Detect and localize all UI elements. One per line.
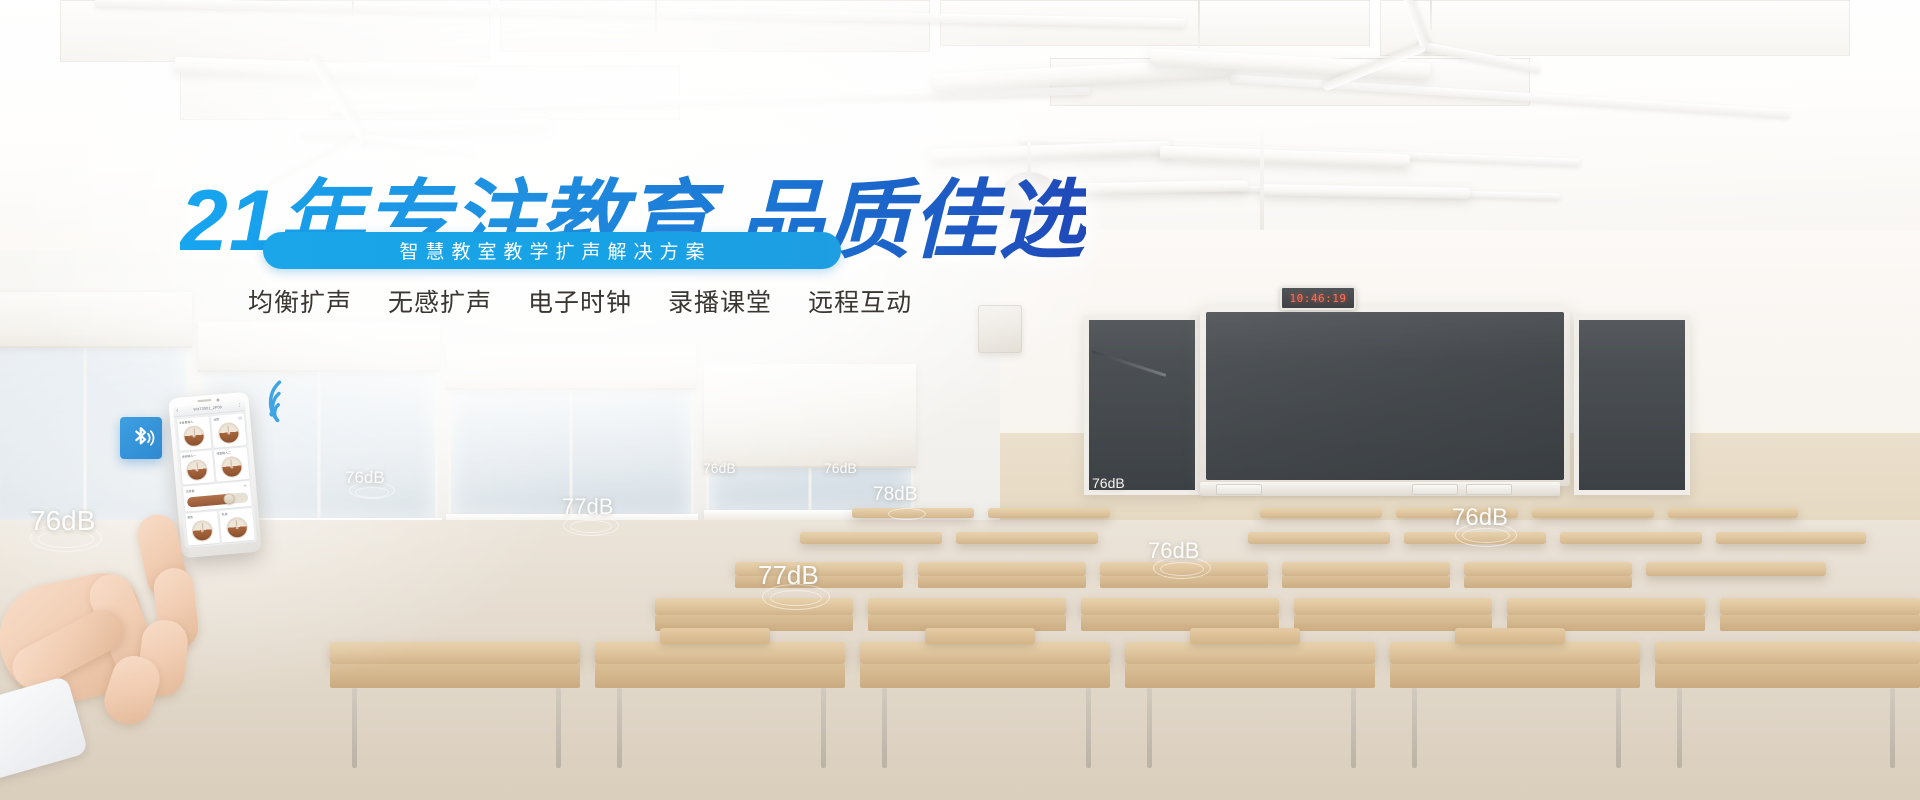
bluetooth-icon[interactable] — [120, 417, 162, 459]
desk-leg — [352, 688, 357, 768]
desk-leg — [1616, 688, 1621, 768]
ceiling-light — [300, 119, 550, 138]
student-desk — [918, 562, 1086, 576]
student-desk — [1125, 642, 1375, 664]
student-desk — [1260, 508, 1382, 518]
subtitle-pill-label: 智慧教室教学扩声解决方案 — [392, 237, 711, 264]
phone-screen[interactable]: ‹ WX73002_2P08 ⋮ 主音量输入 — [173, 401, 257, 548]
knob-header: 主音量输入 — [179, 419, 207, 425]
desk-front-panel — [330, 664, 580, 688]
slider-track[interactable] — [186, 492, 248, 507]
more-vertical-icon[interactable]: ⋮ — [237, 403, 242, 408]
desk-front-panel — [1720, 615, 1920, 631]
tray-box — [1216, 484, 1262, 495]
student-desk — [1716, 532, 1866, 544]
desk-leg — [1086, 688, 1091, 768]
student-chair — [925, 628, 1035, 644]
knob-label: 低音 — [222, 512, 228, 516]
classroom-hero-banner: 10:46:19 — [0, 0, 1920, 800]
blackboard-right-wing — [1574, 315, 1690, 495]
feature-item-3: 录播课堂 — [668, 283, 772, 319]
light-rod — [1198, 0, 1200, 48]
wall-control-panel — [978, 305, 1022, 353]
ceiling-light — [1260, 184, 1470, 199]
student-desk — [1655, 642, 1920, 664]
knob-header: 高音 — [187, 513, 215, 519]
student-desk — [1404, 532, 1546, 544]
knob-card[interactable]: 低音 — [219, 508, 254, 542]
subtitle-pill: 智慧教室教学扩声解决方案 — [263, 232, 841, 269]
smartphone[interactable]: ‹ WX73002_2P08 ⋮ 主音量输入 — [168, 392, 262, 558]
knob-header: 话筒 — [213, 415, 241, 421]
student-desk — [988, 508, 1110, 518]
student-desk — [860, 642, 1110, 664]
student-desk — [1464, 562, 1632, 576]
desk-leg — [1890, 688, 1895, 768]
feature-item-2: 电子时钟 — [528, 283, 632, 319]
feature-list: 均衡扩声 无感扩声 电子时钟 录播课堂 远程互动 — [248, 283, 912, 319]
knob-grid: 主音量输入 话筒 — [176, 413, 248, 484]
tray-box — [1466, 484, 1512, 495]
light-rod — [1430, 0, 1432, 30]
student-chair — [660, 628, 770, 644]
desk-front-panel — [1125, 664, 1375, 688]
student-desk — [956, 532, 1098, 544]
desk-front-panel — [1100, 576, 1268, 588]
knob-card[interactable]: 线路输入二 — [214, 447, 249, 481]
volume-slider-card[interactable]: 总音量 + — [182, 481, 251, 511]
student-desk — [735, 562, 903, 576]
student-desk — [800, 532, 942, 544]
desk-leg — [1412, 688, 1417, 768]
desk-front-panel — [735, 576, 903, 588]
student-desk — [868, 598, 1066, 615]
desk-front-panel — [1464, 576, 1632, 588]
desk-leg — [882, 688, 887, 768]
knob-header: 线路输入二 — [216, 449, 244, 455]
slider-label: 总音量 — [186, 489, 195, 494]
feature-item-0: 均衡扩声 — [248, 283, 352, 319]
student-chair — [1455, 628, 1565, 644]
phone-earpiece — [197, 398, 219, 403]
window-blind — [0, 292, 192, 348]
desk-front-panel — [918, 576, 1086, 588]
knob-label: 音频输入一 — [182, 454, 197, 459]
desk-leg — [821, 688, 826, 768]
light-rod — [655, 0, 657, 34]
rotary-knob[interactable] — [186, 458, 209, 481]
light-rod — [352, 0, 354, 16]
student-desk — [1081, 598, 1279, 615]
desk-front-panel — [860, 664, 1110, 688]
knob-header: 音频输入一 — [182, 452, 210, 458]
student-desk — [1560, 532, 1702, 544]
desk-front-panel — [1655, 664, 1920, 688]
plus-icon[interactable]: + — [243, 484, 246, 489]
rotary-knob[interactable] — [183, 424, 206, 447]
feature-item-4: 远程互动 — [808, 283, 912, 319]
desk-leg — [1677, 688, 1682, 768]
student-desk — [655, 598, 853, 615]
back-icon[interactable]: ‹ — [176, 408, 179, 414]
student-chair — [1190, 628, 1300, 644]
student-desk — [1668, 508, 1798, 518]
earpiece-slot — [197, 399, 211, 402]
blackboard-left-wing — [1084, 315, 1200, 495]
blackboard-surface — [1206, 312, 1564, 480]
student-desk — [1507, 598, 1705, 615]
knob-card[interactable]: 音频输入一 — [179, 450, 214, 484]
rotary-knob[interactable] — [217, 421, 240, 444]
knob-card[interactable]: 话筒 — [211, 413, 246, 447]
slider-handle[interactable] — [223, 492, 235, 504]
blackboard — [1200, 306, 1570, 486]
student-desk — [1396, 508, 1518, 518]
desk-leg — [1351, 688, 1356, 768]
student-desk — [1248, 532, 1390, 544]
clock-time: 10:46:19 — [1290, 292, 1347, 305]
desk-front-panel — [1390, 664, 1640, 688]
knob-header: 低音 — [222, 510, 250, 516]
student-desk — [1532, 508, 1654, 518]
knob-card[interactable]: 高音 — [185, 511, 220, 545]
feature-item-1: 无感扩声 — [388, 283, 492, 319]
tray-box — [1412, 484, 1458, 495]
rotary-knob[interactable] — [191, 519, 214, 542]
bluetooth-glyph — [127, 424, 155, 452]
desk-leg — [556, 688, 561, 768]
student-desk — [1100, 562, 1268, 576]
window-blind — [704, 364, 916, 468]
knob-label: 高音 — [187, 515, 193, 519]
student-desk — [1390, 642, 1640, 664]
desk-front-panel — [595, 664, 845, 688]
rotary-knob[interactable] — [226, 516, 249, 539]
desk-front-panel — [1282, 576, 1450, 588]
student-desk — [330, 642, 580, 664]
student-desk — [1282, 562, 1450, 576]
wifi-signal-icon — [260, 380, 306, 431]
app-content: 主音量输入 话筒 — [174, 411, 257, 548]
window-blind — [198, 322, 440, 372]
knob-badge — [237, 416, 241, 419]
desk-leg — [1147, 688, 1152, 768]
student-desk — [1646, 562, 1826, 576]
window-blind — [446, 344, 696, 390]
electronic-clock: 10:46:19 — [1280, 286, 1356, 310]
rotary-knob[interactable] — [220, 455, 243, 478]
front-camera — [216, 398, 219, 401]
bottom-knob-grid: 高音 低音 — [185, 508, 254, 545]
student-desk — [852, 508, 974, 518]
knob-label: 线路输入二 — [216, 451, 231, 456]
student-desk — [1294, 598, 1492, 615]
student-desk — [1720, 598, 1920, 615]
knob-label: 主音量输入 — [179, 420, 194, 425]
knob-card[interactable]: 主音量输入 — [176, 416, 211, 450]
desk-leg — [617, 688, 622, 768]
student-desk — [595, 642, 845, 664]
knob-label: 话筒 — [213, 417, 219, 421]
